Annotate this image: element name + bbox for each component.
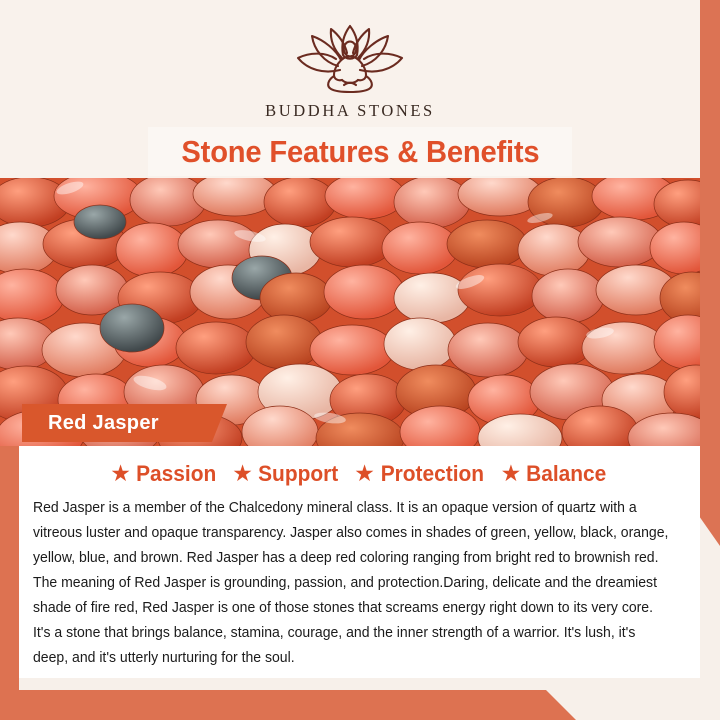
lotus-meditation-icon	[284, 22, 416, 96]
stone-name: Red Jasper	[22, 412, 159, 435]
benefit-item-passion: ★ Passion	[110, 461, 218, 487]
benefit-label: Protection	[381, 461, 484, 487]
benefit-item-protection: ★ Protection	[354, 461, 486, 487]
header: BUDDHA STONES Stone Features & Benefits	[0, 0, 700, 178]
content-panel: ★ Passion ★ Support ★ Protection ★ Balan…	[19, 446, 700, 678]
brand-name: BUDDHA STONES	[265, 101, 435, 121]
brand-logo: BUDDHA STONES	[0, 22, 700, 121]
benefit-label: Support	[258, 461, 338, 487]
stone-description: Red Jasper is a member of the Chalcedony…	[33, 496, 672, 671]
benefit-label: Passion	[136, 461, 216, 487]
right-accent-band	[699, 0, 720, 546]
page-title: Stone Features & Benefits	[181, 134, 539, 170]
benefits-list: ★ Passion ★ Support ★ Protection ★ Balan…	[19, 446, 700, 487]
left-accent-band	[0, 436, 19, 692]
stone-name-ribbon: Red Jasper	[22, 404, 227, 442]
infographic-page: BUDDHA STONES Stone Features & Benefits	[0, 0, 720, 720]
benefit-item-balance: ★ Balance	[501, 461, 609, 487]
star-icon: ★	[501, 462, 522, 485]
benefit-label: Balance	[526, 461, 606, 487]
star-icon: ★	[354, 462, 375, 485]
bottom-accent-band	[0, 690, 720, 720]
star-icon: ★	[232, 462, 253, 485]
title-banner: Stone Features & Benefits	[148, 127, 572, 176]
benefit-item-support: ★ Support	[232, 461, 340, 487]
star-icon: ★	[110, 462, 131, 485]
